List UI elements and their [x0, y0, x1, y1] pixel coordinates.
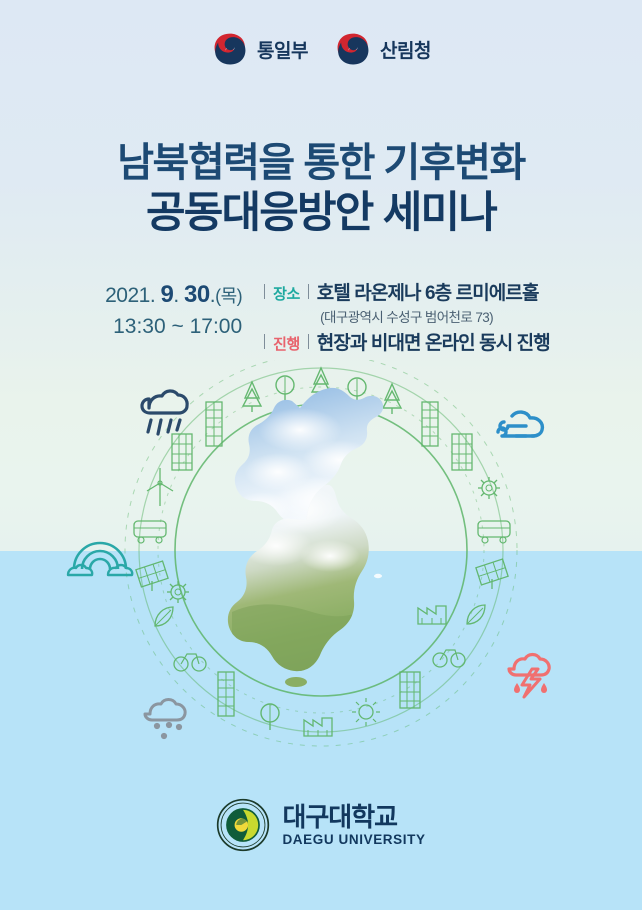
- taegeuk-emblem-icon: [211, 30, 249, 68]
- event-venue-details: 장소 호텔 라온제나 6층 르미에르홀 (대구광역시 수성구 범어천로 73) …: [264, 278, 550, 355]
- poster-title: 남북협력을 통한 기후변화 공동대응방안 세미나: [0, 140, 642, 239]
- date-day-of-week: (목): [215, 286, 242, 306]
- event-datetime: 2021. 9. 30.(목) 13:30 ~ 17:00: [92, 278, 242, 342]
- rain-cloud-icon: [133, 382, 191, 444]
- venue-tag: 장소: [264, 283, 309, 304]
- event-time: 13:30 ~ 17:00: [92, 313, 242, 341]
- event-info: 2021. 9. 30.(목) 13:30 ~ 17:00 장소 호텔 라온제나…: [0, 278, 642, 355]
- ministry-logo-unification: 통일부: [211, 30, 308, 68]
- date-year: 2021.: [105, 284, 160, 307]
- ulleungdo-island: [374, 574, 382, 578]
- mode-tag: 진행: [264, 333, 309, 354]
- header-logos: 통일부 산림청: [0, 30, 642, 68]
- ministry-logo-label: 산림청: [380, 36, 431, 63]
- jeju-island: [285, 677, 307, 687]
- wind-cloud-icon: [486, 404, 550, 448]
- daegu-university-seal-icon: [216, 798, 270, 852]
- footer-university: 대구대학교 DAEGU UNIVERSITY: [0, 798, 642, 852]
- university-name-en: DAEGU UNIVERSITY: [282, 833, 425, 847]
- ministry-logo-forest-service: 산림청: [334, 30, 431, 68]
- venue-address: (대구광역시 수성구 범어천로 73): [320, 306, 550, 326]
- university-name-ko: 대구대학교: [282, 804, 425, 830]
- event-date: 2021. 9. 30.(목): [92, 279, 242, 311]
- title-line-1: 남북협력을 통한 기후변화: [0, 140, 642, 187]
- date-day: 30: [184, 281, 210, 308]
- snow-cloud-icon: [138, 692, 194, 744]
- ministry-logo-label: 통일부: [257, 36, 308, 63]
- mode-row: 진행 현장과 비대면 온라인 동시 진행: [264, 328, 550, 355]
- thunderstorm-icon: [502, 645, 558, 699]
- poster-root: 통일부 산림청 남북협력을 통한 기후변화 공동대응방안 세미나 2021. 9…: [0, 0, 642, 910]
- date-month: 9: [161, 281, 174, 308]
- taegeuk-emblem-icon: [334, 30, 372, 68]
- university-name-block: 대구대학교 DAEGU UNIVERSITY: [282, 804, 425, 847]
- date-separator: .: [173, 284, 184, 307]
- venue-value: 호텔 라온제나 6층 르미에르홀: [317, 278, 539, 305]
- title-line-2: 공동대응방안 세미나: [0, 189, 642, 239]
- rainbow-cloud-icon: [60, 533, 140, 581]
- mode-value: 현장과 비대면 온라인 동시 진행: [317, 328, 550, 355]
- venue-row: 장소 호텔 라온제나 6층 르미에르홀: [264, 278, 550, 305]
